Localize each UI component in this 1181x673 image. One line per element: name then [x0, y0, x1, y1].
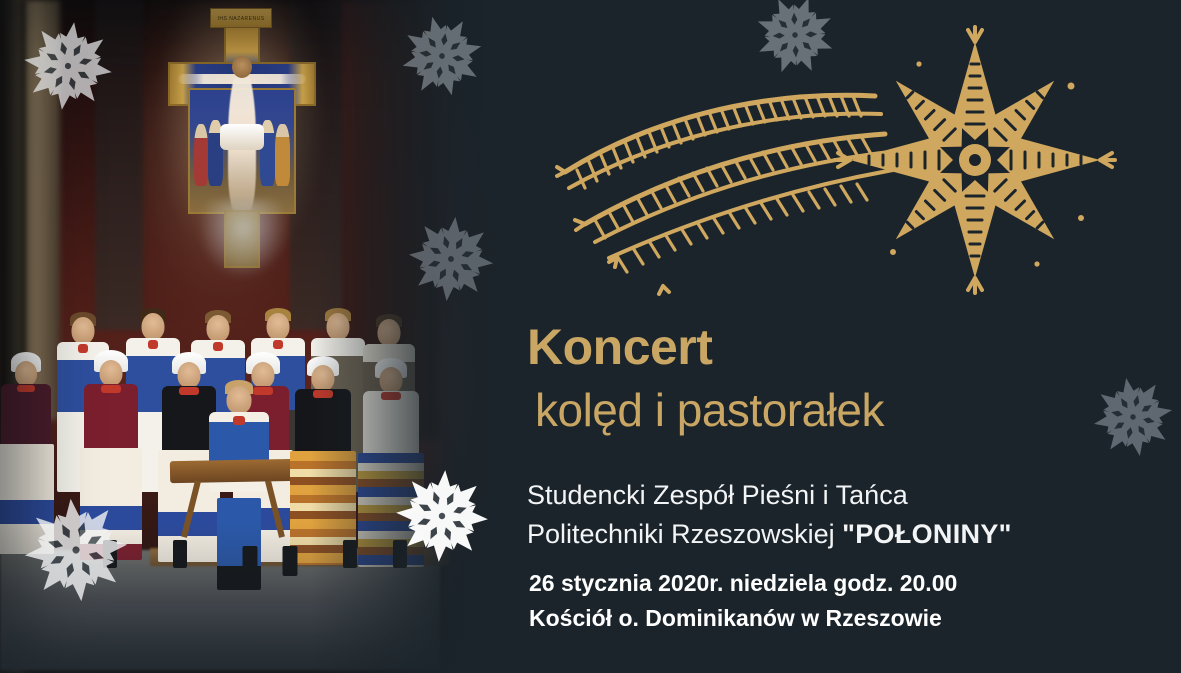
photo-right-fade: [0, 0, 500, 673]
event-date-line: 26 stycznia 2020r. niedziela godz. 20.00: [529, 572, 957, 595]
ensemble-line-1: Studencki Zespół Pieśni i Tańca: [527, 482, 908, 509]
headline-line-1: Koncert: [527, 322, 712, 372]
ensemble-name: "POŁONINY": [842, 519, 1012, 549]
event-venue-line: Kościół o. Dominikanów w Rzeszowie: [529, 607, 942, 630]
church-choir-photograph: IHS NAZARENUS REX IUDAEORUM: [0, 0, 500, 673]
concert-poster: IHS NAZARENUS REX IUDAEORUM: [0, 0, 1181, 673]
poster-text-block: Koncert kolęd i pastorałek Studencki Zes…: [527, 0, 1167, 673]
headline-line-2: kolęd i pastorałek: [535, 387, 884, 433]
ensemble-line-2-prefix: Politechniki Rzeszowskiej: [527, 519, 842, 549]
ensemble-line-2: Politechniki Rzeszowskiej "POŁONINY": [527, 521, 1012, 548]
